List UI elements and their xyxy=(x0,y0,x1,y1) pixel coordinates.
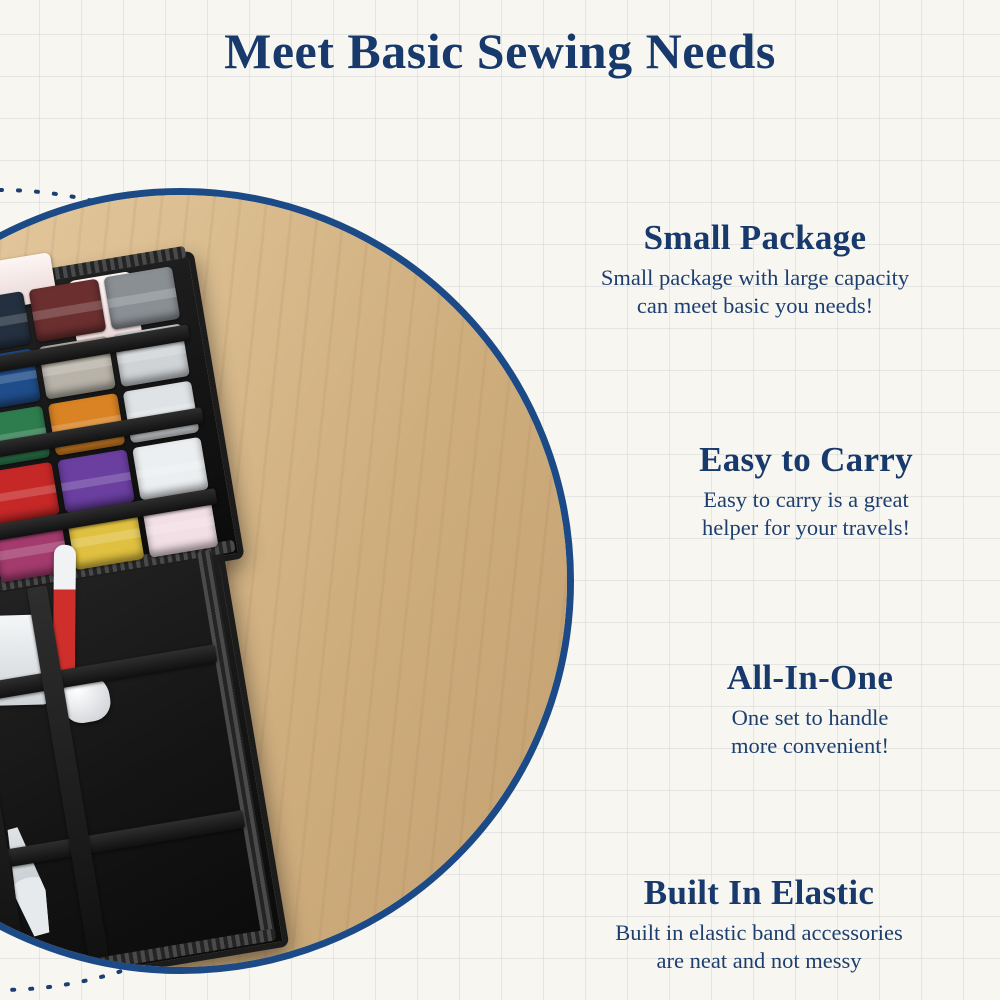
feature-heading: Built In Elastic xyxy=(534,873,984,913)
feature-body-line-2: can meet basic you needs! xyxy=(520,292,990,320)
feature-all-in-one: All-In-One One set to handle more conven… xyxy=(640,658,980,761)
feature-body-line-1: One set to handle xyxy=(640,704,980,732)
thread-bobbin xyxy=(103,266,180,330)
page-title: Meet Basic Sewing Needs xyxy=(0,22,1000,80)
thread-bobbin xyxy=(29,279,106,343)
feature-heading: All-In-One xyxy=(640,658,980,698)
feature-body-line-2: more convenient! xyxy=(640,732,980,760)
feature-heading: Easy to Carry xyxy=(620,440,992,480)
feature-body-line-2: helper for your travels! xyxy=(620,514,992,542)
feature-body-line-1: Small package with large capacity xyxy=(520,264,990,292)
product-infographic-page: Meet Basic Sewing Needs xyxy=(0,0,1000,1000)
product-photo-circle xyxy=(0,188,574,974)
feature-heading: Small Package xyxy=(520,218,990,258)
feature-small-package: Small Package Small package with large c… xyxy=(520,218,990,321)
feature-body-line-2: are neat and not messy xyxy=(534,947,984,975)
feature-body-line-1: Built in elastic band accessories xyxy=(534,919,984,947)
feature-easy-to-carry: Easy to Carry Easy to carry is a great h… xyxy=(620,440,992,543)
product-photo xyxy=(0,195,567,967)
thread-bobbin xyxy=(0,291,31,355)
feature-built-in-elastic: Built In Elastic Built in elastic band a… xyxy=(534,873,984,976)
feature-body-line-1: Easy to carry is a great xyxy=(620,486,992,514)
